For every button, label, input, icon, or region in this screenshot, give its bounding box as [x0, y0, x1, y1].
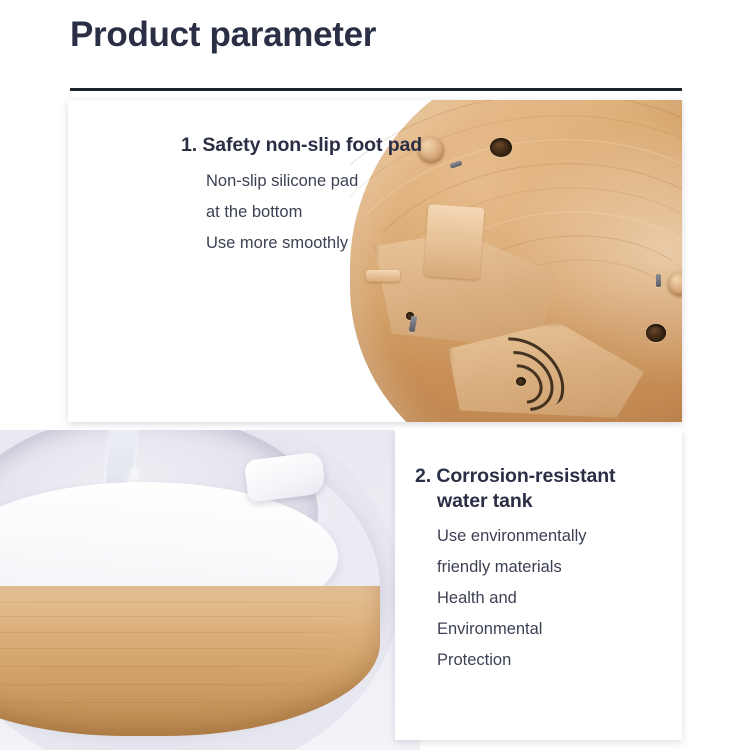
- section-two-body-line: Health and: [437, 583, 670, 614]
- section-two: H ON MIST 2. Corrosion-resistant water t…: [0, 430, 750, 750]
- vent-slot: [656, 274, 661, 287]
- section-two-heading-line2: water tank: [437, 489, 670, 514]
- section-two-card: 2. Corrosion-resistant water tank Use en…: [395, 430, 682, 740]
- section-one-heading: 1. Safety non-slip foot pad: [181, 132, 481, 158]
- section-two-text: 2. Corrosion-resistant water tank Use en…: [415, 464, 670, 676]
- diffuser-wood-base: [0, 586, 380, 736]
- section-one: 1. Safety non-slip foot pad Non-slip sil…: [0, 96, 750, 432]
- wood-grain-line: [0, 602, 360, 603]
- wood-grain-line: [0, 648, 338, 649]
- page-title: Product parameter: [70, 12, 376, 58]
- fan-vent: [468, 336, 572, 416]
- section-two-body-line: Use environmentally: [437, 521, 670, 552]
- wood-grain-line: [0, 616, 354, 617]
- title-divider: [70, 88, 682, 91]
- diffuser-ridge: [366, 270, 400, 282]
- screw-hole: [490, 138, 512, 157]
- section-two-heading-line1: 2. Corrosion-resistant: [415, 465, 615, 487]
- wood-grain-line: [0, 632, 346, 633]
- section-one-body-line: at the bottom: [206, 197, 481, 228]
- section-two-body-line: friendly materials: [437, 552, 670, 583]
- section-two-body-line: Protection: [437, 645, 670, 676]
- section-two-body-line: Environmental: [437, 614, 670, 645]
- wood-grain-line: [0, 666, 326, 667]
- section-one-card: 1. Safety non-slip foot pad Non-slip sil…: [68, 100, 682, 422]
- section-one-body-line: Non-slip silicone pad: [206, 166, 481, 197]
- product-parameter-page: Product parameter: [0, 0, 750, 750]
- water-tank-photo: H ON MIST: [0, 430, 440, 750]
- section-one-body-line: Use more smoothly: [206, 228, 481, 259]
- section-one-text: 1. Safety non-slip foot pad Non-slip sil…: [181, 132, 481, 259]
- wood-grain-line: [0, 702, 292, 703]
- wood-grain-line: [0, 684, 312, 685]
- screw-hole: [646, 324, 666, 342]
- section-two-heading: 2. Corrosion-resistant water tank: [415, 464, 670, 514]
